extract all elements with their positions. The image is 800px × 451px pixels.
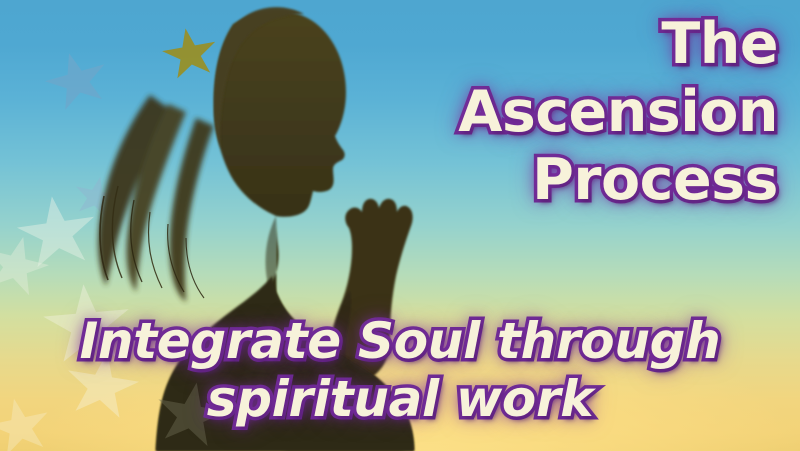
subtitle-line-1: Integrate Soul through — [0, 312, 800, 370]
headline-line-1: The Ascension — [348, 10, 778, 146]
headline-line-2: Process — [348, 146, 778, 214]
subtitle-line-2: spiritual work — [0, 370, 800, 428]
subtitle-caption: Integrate Soul through spiritual work — [0, 312, 800, 428]
ascension-banner: The Ascension Process Integrate Soul thr… — [0, 0, 800, 451]
headline-title: The Ascension Process — [348, 10, 778, 214]
